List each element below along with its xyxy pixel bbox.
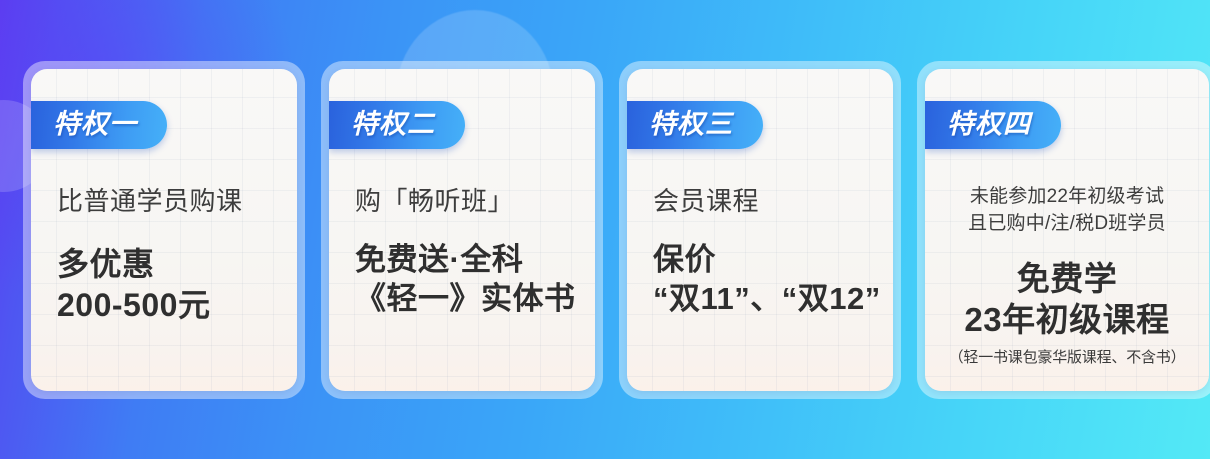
card-4-description-line-1: 未能参加22年初级考试 <box>935 183 1199 211</box>
privilege-card-1[interactable]: 特权一 比普通学员购课 多优惠 200-500元 <box>23 61 305 399</box>
card-surface: 特权一 比普通学员购课 多优惠 200-500元 <box>31 69 297 391</box>
card-3-headline-line-1: 保价 <box>653 240 875 279</box>
privilege-card-list: 特权一 比普通学员购课 多优惠 200-500元 特权二 <box>0 0 1210 459</box>
card-1-description: 比普通学员购课 <box>57 185 279 219</box>
promo-banner: 特权一 比普通学员购课 多优惠 200-500元 特权二 <box>0 0 1210 459</box>
card-1-headline-line-1: 多优惠 <box>57 244 279 284</box>
card-1-headline: 多优惠 200-500元 <box>57 244 279 325</box>
card-1-badge: 特权一 <box>31 101 167 149</box>
card-2-headline-line-1: 免费送·全科 <box>355 240 577 279</box>
card-4-footnote: （轻一书课包豪华版课程、不含书） <box>935 349 1199 367</box>
privilege-card-3[interactable]: 特权三 会员课程 保价 “双11”、“双12” <box>619 61 901 399</box>
card-1-badge-label: 特权一 <box>53 111 137 138</box>
card-3-headline-line-2: “双11”、“双12” <box>653 279 875 318</box>
card-2-description-line-1: 购「畅听班」 <box>355 185 577 219</box>
card-surface: 特权三 会员课程 保价 “双11”、“双12” <box>627 69 893 391</box>
card-4-headline: 免费学 23年初级课程 <box>935 258 1199 341</box>
card-3-badge-label: 特权三 <box>649 111 733 138</box>
card-4-badge: 特权四 <box>925 101 1061 149</box>
card-1-description-line-1: 比普通学员购课 <box>57 185 279 219</box>
card-2-description: 购「畅听班」 <box>355 185 577 219</box>
card-3-description-line-1: 会员课程 <box>653 185 875 219</box>
card-3-description: 会员课程 <box>653 185 875 219</box>
card-4-badge-label: 特权四 <box>947 111 1031 138</box>
card-4-headline-line-1: 免费学 <box>935 258 1199 300</box>
card-2-headline-line-2: 《轻一》实体书 <box>355 279 577 318</box>
card-surface: 特权二 购「畅听班」 免费送·全科 《轻一》实体书 <box>329 69 595 391</box>
card-4-description: 未能参加22年初级考试 且已购中/注/税D班学员 <box>935 183 1199 238</box>
card-1-body: 比普通学员购课 多优惠 200-500元 <box>31 165 297 391</box>
card-3-body: 会员课程 保价 “双11”、“双12” <box>627 165 893 391</box>
card-1-headline-line-2: 200-500元 <box>57 285 279 325</box>
card-4-description-line-2: 且已购中/注/税D班学员 <box>935 210 1199 238</box>
card-2-headline: 免费送·全科 《轻一》实体书 <box>355 240 577 318</box>
card-3-headline: 保价 “双11”、“双12” <box>653 240 875 318</box>
card-2-badge: 特权二 <box>329 101 465 149</box>
card-2-badge-label: 特权二 <box>351 111 435 138</box>
card-2-body: 购「畅听班」 免费送·全科 《轻一》实体书 <box>329 165 595 391</box>
card-4-body: 未能参加22年初级考试 且已购中/注/税D班学员 免费学 23年初级课程 （轻一… <box>925 165 1209 391</box>
privilege-card-4[interactable]: 特权四 未能参加22年初级考试 且已购中/注/税D班学员 免费学 23年初级课程… <box>917 61 1210 399</box>
card-4-headline-line-2: 23年初级课程 <box>935 299 1199 341</box>
privilege-card-2[interactable]: 特权二 购「畅听班」 免费送·全科 《轻一》实体书 <box>321 61 603 399</box>
card-3-badge: 特权三 <box>627 101 763 149</box>
card-surface: 特权四 未能参加22年初级考试 且已购中/注/税D班学员 免费学 23年初级课程… <box>925 69 1209 391</box>
